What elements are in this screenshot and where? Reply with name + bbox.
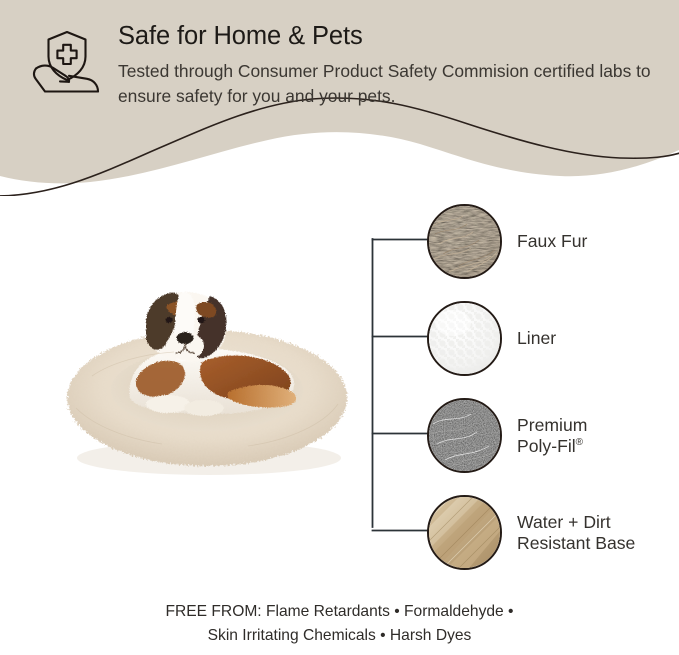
shield-cross-in-hand-icon xyxy=(27,23,107,103)
callout-label-liner: Liner xyxy=(517,328,556,349)
callout-label-premium-poly-fil: PremiumPoly-Fil® xyxy=(517,415,587,457)
base-label-line-2: Resistant Base xyxy=(517,533,635,553)
header-content: Safe for Home & Pets Tested through Cons… xyxy=(0,0,679,130)
callout-label-faux-fur: Faux Fur xyxy=(517,231,587,252)
poly-fil-label-line-1: Premium xyxy=(517,415,587,435)
dog-in-donut-bed-illustration xyxy=(52,258,362,488)
free-from-line-2: Skin Irritating Chemicals • Harsh Dyes xyxy=(0,624,679,648)
callout-water-dirt-resistant-base: Water + DirtResistant Base xyxy=(427,495,635,570)
poly-fil-fiber-texture-swatch xyxy=(427,398,502,473)
header-subtitle: Tested through Consumer Product Safety C… xyxy=(118,59,670,109)
header-banner: Safe for Home & Pets Tested through Cons… xyxy=(0,0,679,196)
free-from-line-1: FREE FROM: Flame Retardants • Formaldehy… xyxy=(0,600,679,624)
poly-fil-label-line-2: Poly-Fil xyxy=(517,436,576,456)
water-dirt-resistant-base-fabric-swatch xyxy=(427,495,502,570)
faux-fur-texture-swatch xyxy=(427,204,502,279)
callout-liner: Liner xyxy=(427,301,556,376)
callout-faux-fur: Faux Fur xyxy=(427,204,587,279)
liner-quilted-texture-swatch xyxy=(427,301,502,376)
registered-trademark-icon: ® xyxy=(576,437,583,448)
callout-premium-poly-fil: PremiumPoly-Fil® xyxy=(427,398,587,473)
product-infographic: Safe for Home & Pets Tested through Cons… xyxy=(0,0,679,655)
free-from-footer: FREE FROM: Flame Retardants • Formaldehy… xyxy=(0,600,679,648)
product-photo-dog-in-bed xyxy=(52,258,362,488)
header-title: Safe for Home & Pets xyxy=(118,22,363,51)
callout-label-water-dirt-resistant-base: Water + DirtResistant Base xyxy=(517,512,635,554)
base-label-line-1: Water + Dirt xyxy=(517,512,611,532)
